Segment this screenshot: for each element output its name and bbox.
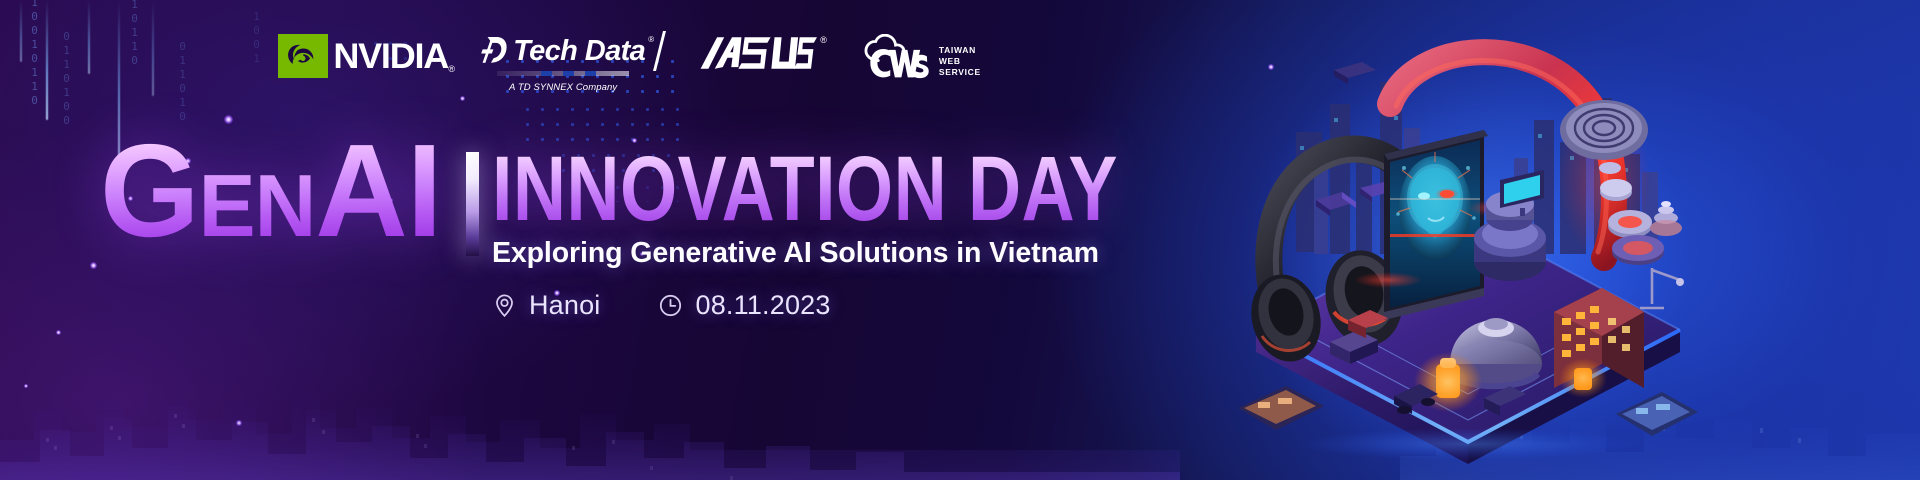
tws-tagline-line-3: SERVICE <box>939 67 981 78</box>
genai-wordmark: GENAI <box>100 130 447 251</box>
binary-column: 0110100 <box>60 30 72 128</box>
binary-column: 1001 <box>250 10 262 66</box>
nvidia-wordmark: NVIDIA <box>333 39 448 74</box>
techdata-underline-bar <box>497 71 629 76</box>
date-label: 08.11.2023 <box>695 290 830 321</box>
asus-registered-mark: ® <box>820 35 827 45</box>
light-streak <box>20 0 22 62</box>
glow-particle <box>90 262 97 269</box>
genai-innovation-day-banner: 10010110 0110100 10110 011010 1001 <box>0 0 1920 480</box>
light-streak <box>46 0 48 120</box>
asus-wordmark-icon <box>699 34 817 72</box>
page-title: INNOVATION DAY <box>492 146 1118 233</box>
logo-tws[interactable]: TAIWAN WEB SERVICE <box>857 34 981 80</box>
headline-block: GENAI INNOVATION DAY Exploring Generativ… <box>100 130 1274 321</box>
binary-column: 011010 <box>176 40 188 124</box>
tws-tagline-line-2: WEB <box>939 56 981 67</box>
title-and-details: INNOVATION DAY Exploring Generative AI S… <box>492 146 1274 321</box>
vertical-divider-bar <box>466 152 479 256</box>
logo-nvidia[interactable]: NVIDIA ® <box>278 34 455 78</box>
tws-tagline-line-1: TAIWAN <box>939 45 981 56</box>
binary-column: 10110 <box>128 0 140 68</box>
nvidia-eye-icon <box>278 34 328 78</box>
techdata-slash-accent <box>653 31 666 71</box>
map-pin-icon <box>492 293 517 318</box>
event-date: 08.11.2023 <box>658 290 830 321</box>
glow-particle <box>460 96 465 101</box>
location-label: Hanoi <box>529 290 601 321</box>
event-location: Hanoi <box>492 290 601 321</box>
glow-particle <box>56 330 61 335</box>
subtitle: Exploring Generative AI Solutions in Vie… <box>492 237 1274 270</box>
genai-g: G <box>100 117 199 264</box>
techdata-d-icon <box>481 34 509 68</box>
light-streak <box>88 0 90 74</box>
tws-cloud-icon <box>857 34 935 80</box>
binary-column: 10010110 <box>28 0 40 108</box>
light-streak <box>152 0 154 96</box>
genai-ai: AI <box>315 117 441 264</box>
partner-logos: NVIDIA ® Tech Data ® A TD SYNNEX Company <box>278 34 981 92</box>
glow-particle <box>224 115 233 124</box>
logo-asus[interactable]: ® <box>699 34 827 72</box>
isometric-ai-tech-city-illustration <box>1238 12 1698 472</box>
glow-particle <box>24 384 28 388</box>
genai-en: EN <box>199 156 316 255</box>
techdata-wordmark: Tech Data <box>513 37 645 66</box>
clock-icon <box>658 293 683 318</box>
nvidia-registered-mark: ® <box>448 64 455 74</box>
techdata-tagline: A TD SYNNEX Company <box>509 82 617 93</box>
glow-particle <box>236 420 242 426</box>
logo-techdata[interactable]: Tech Data ® A TD SYNNEX Company <box>481 34 645 93</box>
event-meta: Hanoi 08.11.2023 <box>492 290 1274 321</box>
techdata-trademark-mark: ® <box>648 35 654 44</box>
